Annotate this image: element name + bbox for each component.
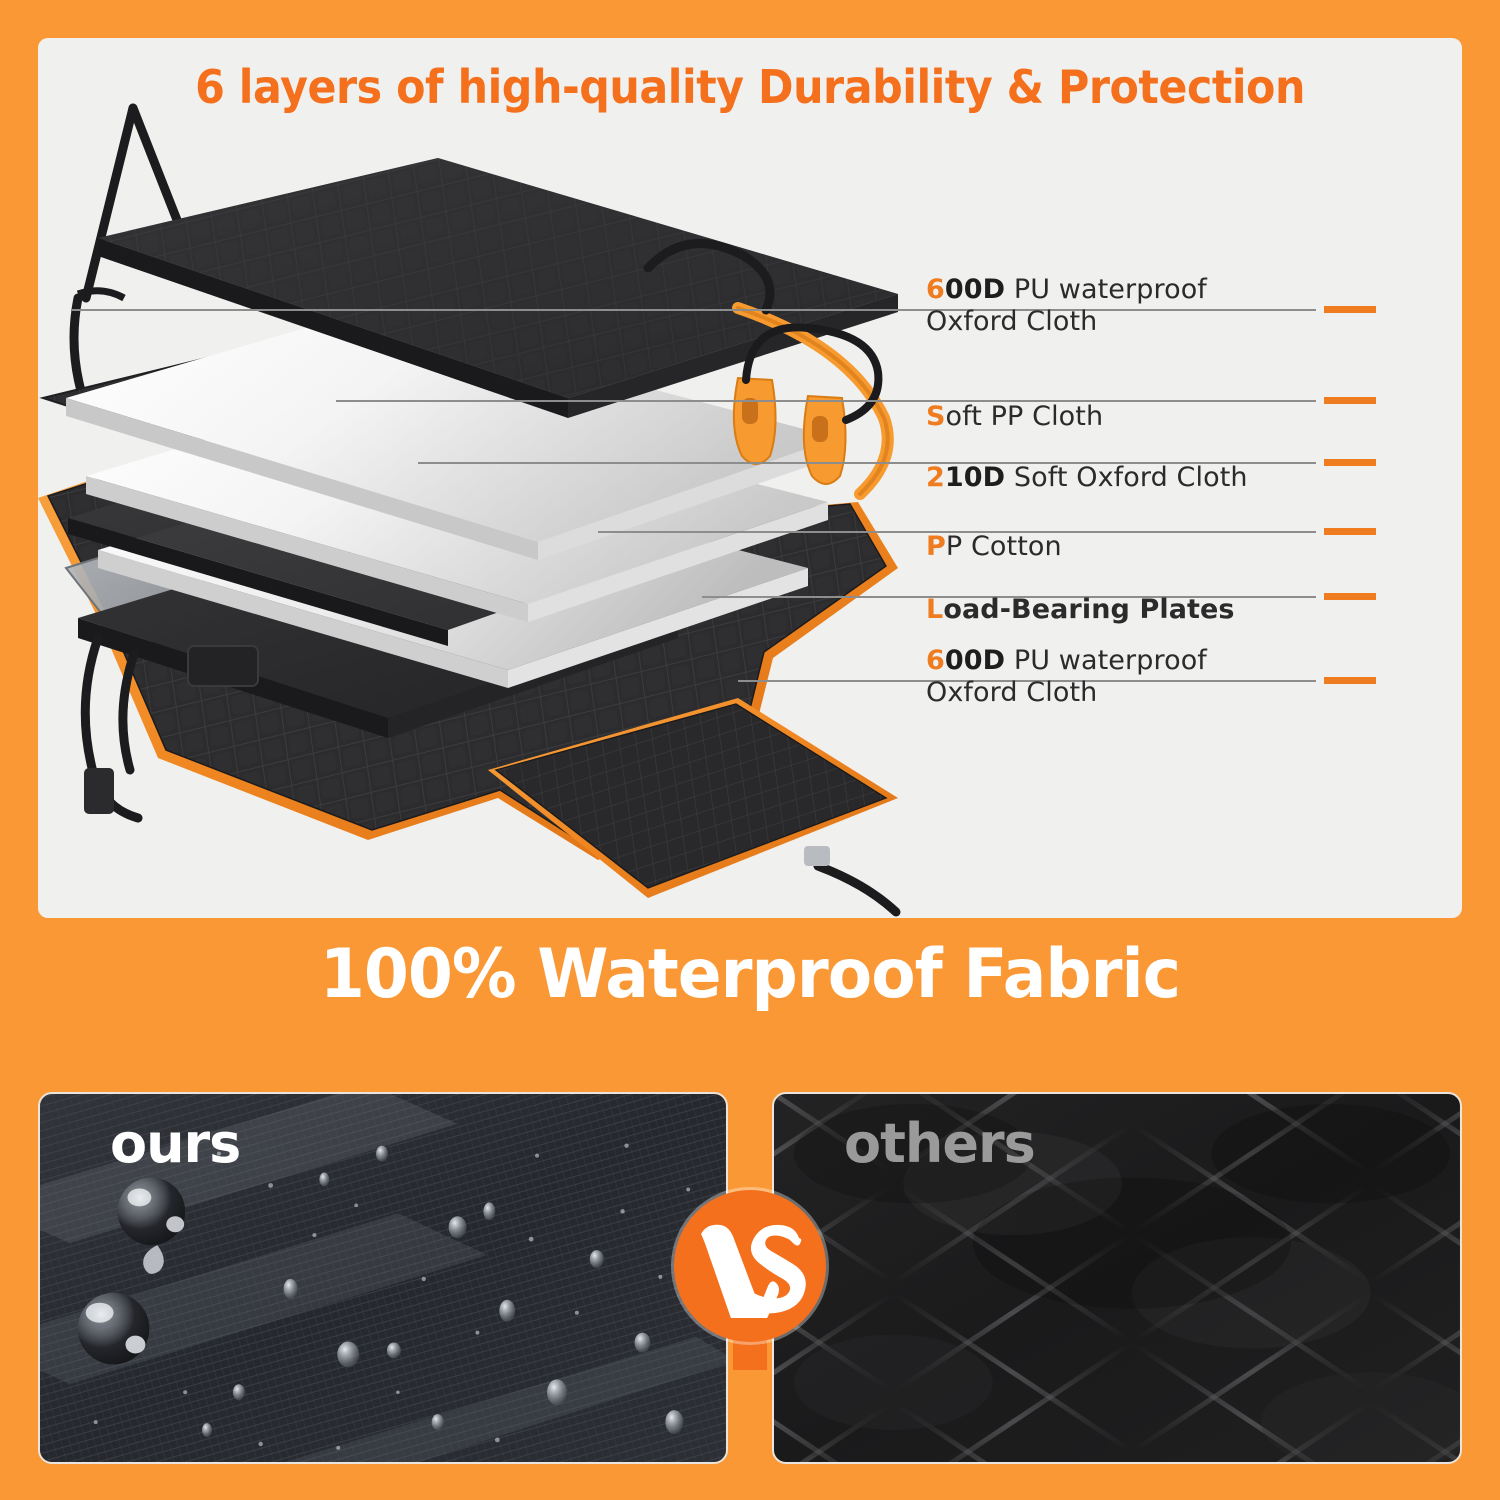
- leader-cap-5: [1324, 593, 1376, 600]
- vs-badge: [674, 1190, 826, 1342]
- layer-label-4: PP Cotton: [926, 499, 1062, 563]
- layer-label-1: 600D PU waterproofOxford Cloth: [926, 242, 1207, 338]
- leader-cap-3: [1324, 459, 1376, 466]
- waterproof-banner: 100% Waterproof Fabric: [38, 935, 1463, 1014]
- layer-label-2: Soft PP Cloth: [926, 369, 1103, 433]
- vs-badge-text: [674, 1190, 826, 1342]
- layer-label-6: 600D PU waterproofOxford Cloth: [926, 613, 1207, 709]
- comparison-panel-others: others: [772, 1092, 1462, 1464]
- leader-cap-4: [1324, 528, 1376, 535]
- leader-cap-6: [1324, 677, 1376, 684]
- layers-card: 6 layers of high-quality Durability & Pr…: [38, 38, 1462, 918]
- comparison-panel-ours: ours: [38, 1092, 728, 1464]
- leader-line-2: [336, 400, 1316, 402]
- others-label: others: [844, 1112, 1035, 1175]
- leader-cap-2: [1324, 397, 1376, 404]
- leader-cap-1: [1324, 306, 1376, 313]
- ours-label: ours: [110, 1112, 240, 1175]
- product-illustration: [38, 98, 938, 918]
- layer-label-3: 210D Soft Oxford Cloth: [926, 430, 1248, 494]
